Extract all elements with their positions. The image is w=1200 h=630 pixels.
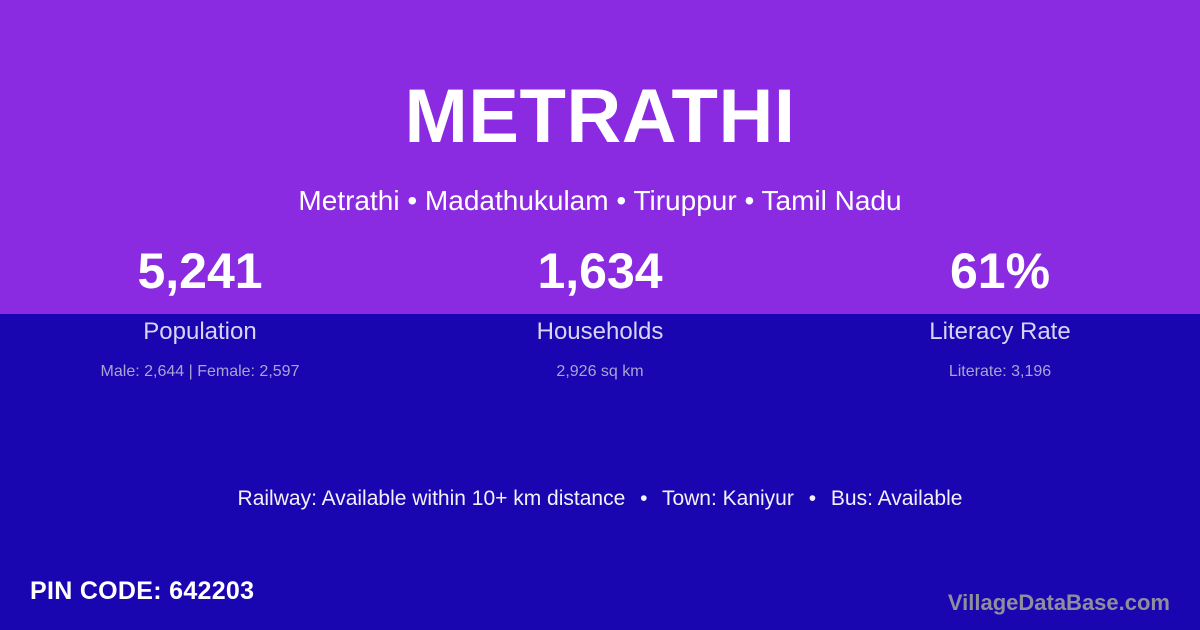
stat-value: 5,241 xyxy=(0,246,400,296)
card-header: METRATHI Metrathi • Madathukulam • Tirup… xyxy=(0,0,1200,215)
town-info: Town: Kaniyur xyxy=(662,487,794,510)
village-info-card: METRATHI Metrathi • Madathukulam • Tirup… xyxy=(0,0,1200,630)
page-title: METRATHI xyxy=(0,0,1200,155)
railway-info: Railway: Available within 10+ km distanc… xyxy=(238,487,626,510)
card-footer: PIN CODE: 642203 VillageDataBase.com xyxy=(0,575,1200,630)
stat-households: 1,634 Households 2,926 sq km xyxy=(400,246,800,380)
stat-detail: 2,926 sq km xyxy=(400,364,800,380)
breadcrumb: Metrathi • Madathukulam • Tiruppur • Tam… xyxy=(0,155,1200,215)
stat-value: 61% xyxy=(800,246,1200,296)
stat-value: 1,634 xyxy=(400,246,800,296)
stat-label: Households xyxy=(400,320,800,344)
stat-label: Literacy Rate xyxy=(800,320,1200,344)
bullet-separator-icon: • xyxy=(800,488,825,509)
stat-detail: Literate: 3,196 xyxy=(800,364,1200,380)
bus-info: Bus: Available xyxy=(831,487,963,510)
stat-population: 5,241 Population Male: 2,644 | Female: 2… xyxy=(0,246,400,380)
site-branding: VillageDataBase.com xyxy=(948,592,1170,614)
stat-detail: Male: 2,644 | Female: 2,597 xyxy=(0,364,400,380)
bullet-separator-icon: • xyxy=(631,488,656,509)
pin-code: PIN CODE: 642203 xyxy=(30,579,254,604)
amenities-info-line: Railway: Available within 10+ km distanc… xyxy=(0,488,1200,509)
statistics-row: 5,241 Population Male: 2,644 | Female: 2… xyxy=(0,246,1200,380)
stat-literacy-rate: 61% Literacy Rate Literate: 3,196 xyxy=(800,246,1200,380)
stat-label: Population xyxy=(0,320,400,344)
